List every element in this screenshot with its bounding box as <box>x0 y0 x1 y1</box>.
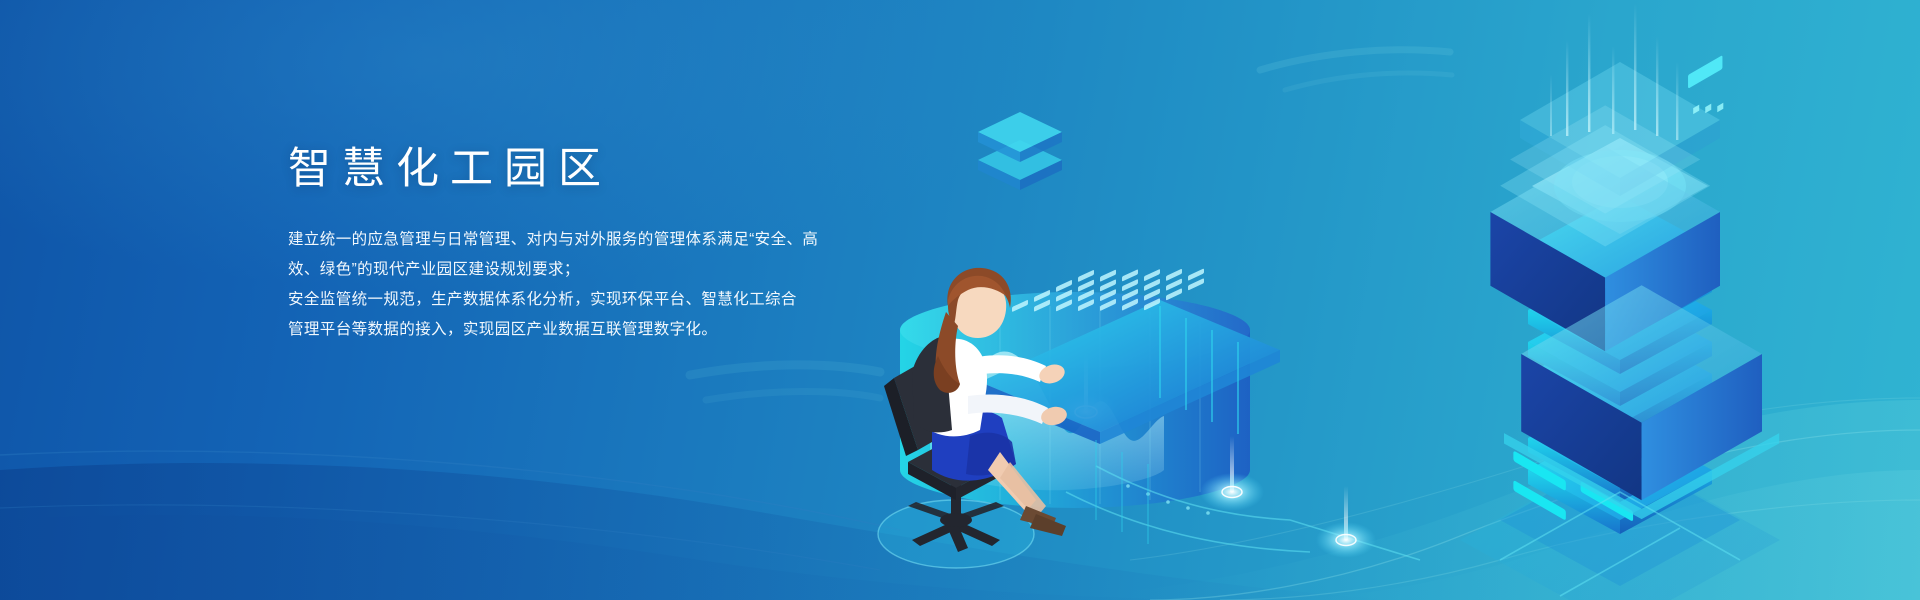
description-line: 效、绿色”的现代产业园区建设规划要求； <box>288 255 908 285</box>
floating-layer-stack <box>978 112 1062 190</box>
description-line: 安全监管统一规范，生产数据体系化分析，实现环保平台、智慧化工综合 <box>288 285 908 315</box>
description-line: 管理平台等数据的接入，实现园区产业数据互联管理数字化。 <box>288 315 908 345</box>
description-line: 建立统一的应急管理与日常管理、对内与对外服务的管理体系满足“安全、高 <box>288 225 908 255</box>
banner-text-block: 智慧化工园区 建立统一的应急管理与日常管理、对内与对外服务的管理体系满足“安全、… <box>288 148 908 345</box>
page-title: 智慧化工园区 <box>288 148 908 191</box>
hero-banner: 智慧化工园区 建立统一的应急管理与日常管理、对内与对外服务的管理体系满足“安全、… <box>0 0 1920 600</box>
smart-chemical-park-illustration <box>860 0 1920 600</box>
banner-description: 建立统一的应急管理与日常管理、对内与对外服务的管理体系满足“安全、高 效、绿色”… <box>288 191 908 345</box>
